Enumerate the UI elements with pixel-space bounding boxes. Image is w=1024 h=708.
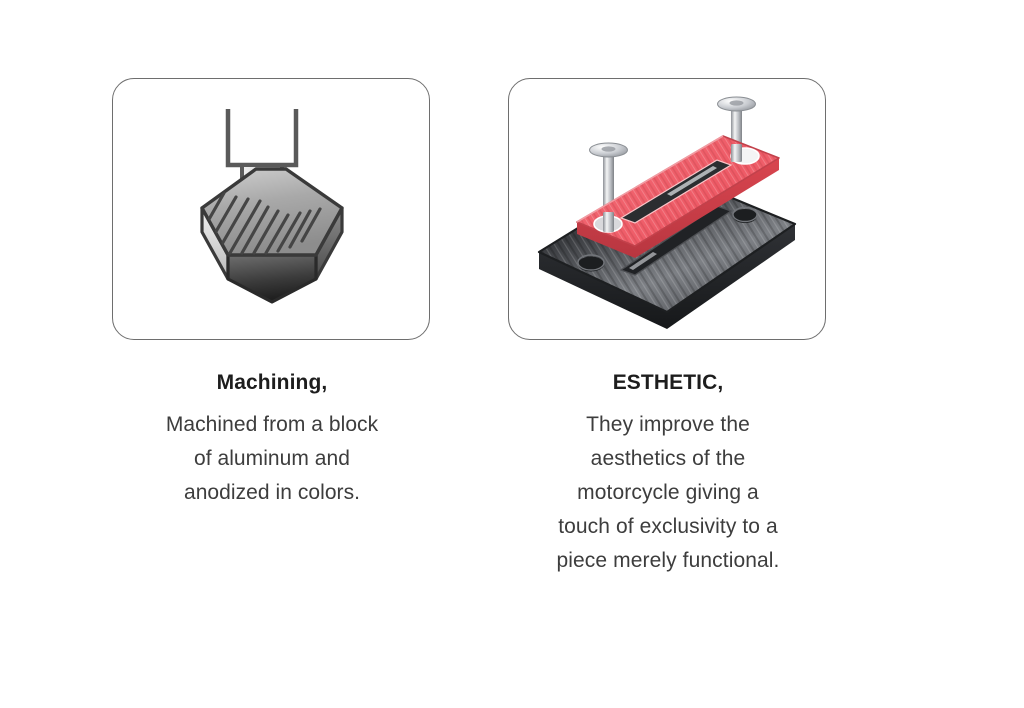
machining-icon-wrapper: [113, 79, 429, 339]
esthetic-body-line-5: piece merely functional.: [508, 544, 828, 578]
machining-body-line-3: anodized in colors.: [112, 476, 432, 510]
machining-caption: Machining, Machined from a block of alum…: [112, 370, 432, 510]
machining-icon-card: [112, 78, 430, 340]
feature-card-esthetic: ESTHETIC, They improve the aesthetics of…: [508, 78, 828, 578]
machining-body: Machined from a block of aluminum and an…: [112, 408, 432, 510]
machining-body-line-1: Machined from a block: [112, 408, 432, 442]
feature-card-machining: Machining, Machined from a block of alum…: [112, 78, 432, 510]
feature-grid: Machining, Machined from a block of alum…: [0, 0, 1024, 708]
esthetic-title: ESTHETIC,: [508, 370, 828, 396]
esthetic-caption: ESTHETIC, They improve the aesthetics of…: [508, 370, 828, 578]
anodized-plate-photo: [517, 84, 817, 334]
esthetic-body-line-2: aesthetics of the: [508, 442, 828, 476]
workpiece-block: [202, 169, 342, 302]
esthetic-body-line-1: They improve the: [508, 408, 828, 442]
esthetic-icon-card: [508, 78, 826, 340]
esthetic-body-line-3: motorcycle giving a: [508, 476, 828, 510]
machining-body-line-2: of aluminum and: [112, 442, 432, 476]
cnc-milling-icon: [156, 103, 386, 315]
base-hole-left: [578, 257, 604, 272]
spindle-bracket: [228, 109, 296, 165]
machining-title: Machining,: [112, 370, 432, 396]
esthetic-body-line-4: touch of exclusivity to a: [508, 510, 828, 544]
esthetic-body: They improve the aesthetics of the motor…: [508, 408, 828, 578]
esthetic-icon-wrapper: [509, 79, 825, 339]
